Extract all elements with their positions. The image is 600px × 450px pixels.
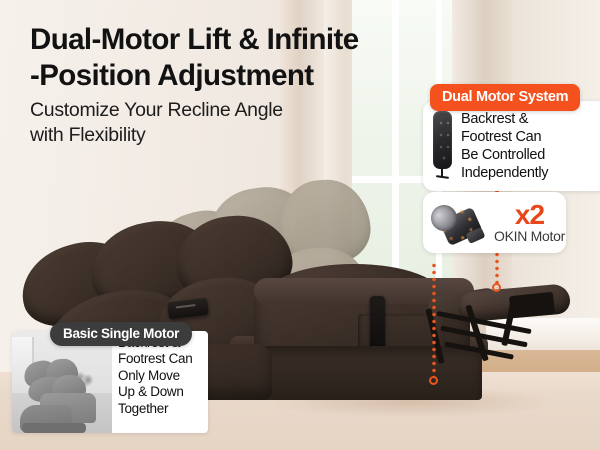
motor-icon	[427, 197, 489, 249]
dotted-connector-endpoint	[492, 283, 501, 292]
dual-motor-text-line-1: Backrest &	[461, 110, 548, 128]
headline-line-1: Dual-Motor Lift & Infinite	[30, 22, 430, 58]
remote-keypad	[439, 120, 450, 162]
remote-body	[433, 111, 452, 169]
dual-motor-system-badge: Dual Motor System	[430, 84, 580, 111]
dotted-connector-backrest	[432, 262, 436, 378]
basic-motor-recliner-photo	[12, 331, 112, 433]
marketing-image-canvas: Dual-Motor Lift & Infinite -Position Adj…	[0, 0, 600, 450]
dual-motor-system-card: Backrest & Footrest Can Be Controlled In…	[423, 101, 600, 191]
photo-recliner-footrest	[22, 423, 86, 433]
subheadline-line-1: Customize Your Recline Angle	[30, 98, 430, 123]
dual-motor-text-line-4: Independently	[461, 164, 548, 182]
basic-single-motor-card: Backrest & Footrest Can Only Move Up & D…	[12, 331, 208, 433]
okin-multiplier: x2	[493, 201, 566, 228]
headline-block: Dual-Motor Lift & Infinite -Position Adj…	[30, 22, 430, 148]
dual-motor-text-line-3: Be Controlled	[461, 146, 548, 164]
okin-motor-label: OKIN Motor	[493, 228, 566, 245]
basic-motor-text-line-4: Up & Down	[118, 384, 192, 400]
dual-motor-card-text: Backrest & Footrest Can Be Controlled In…	[461, 110, 548, 182]
subheadline-block: Customize Your Recline Angle with Flexib…	[30, 98, 430, 148]
okin-text-block: x2 OKIN Motor	[493, 201, 566, 245]
headline-line-2: -Position Adjustment	[30, 58, 430, 94]
basic-single-motor-badge: Basic Single Motor	[50, 322, 192, 346]
basic-motor-text-line-3: Only Move	[118, 368, 192, 384]
scissor-mechanism	[430, 300, 560, 370]
remote-control-icon	[431, 111, 454, 177]
basic-motor-text-line-2: Footrest Can	[118, 351, 192, 367]
remote-cord	[441, 167, 443, 178]
basic-motor-card-text: Backrest & Footrest Can Only Move Up & D…	[112, 331, 208, 433]
okin-motor-card: x2 OKIN Motor	[423, 192, 566, 253]
subheadline-line-2: with Flexibility	[30, 123, 430, 148]
photo-recliner	[18, 359, 102, 429]
basic-motor-text-line-5: Together	[118, 401, 192, 417]
mechanism-plate	[509, 292, 555, 318]
dotted-connector-endpoint	[429, 376, 438, 385]
dual-motor-text-line-2: Footrest Can	[461, 128, 548, 146]
